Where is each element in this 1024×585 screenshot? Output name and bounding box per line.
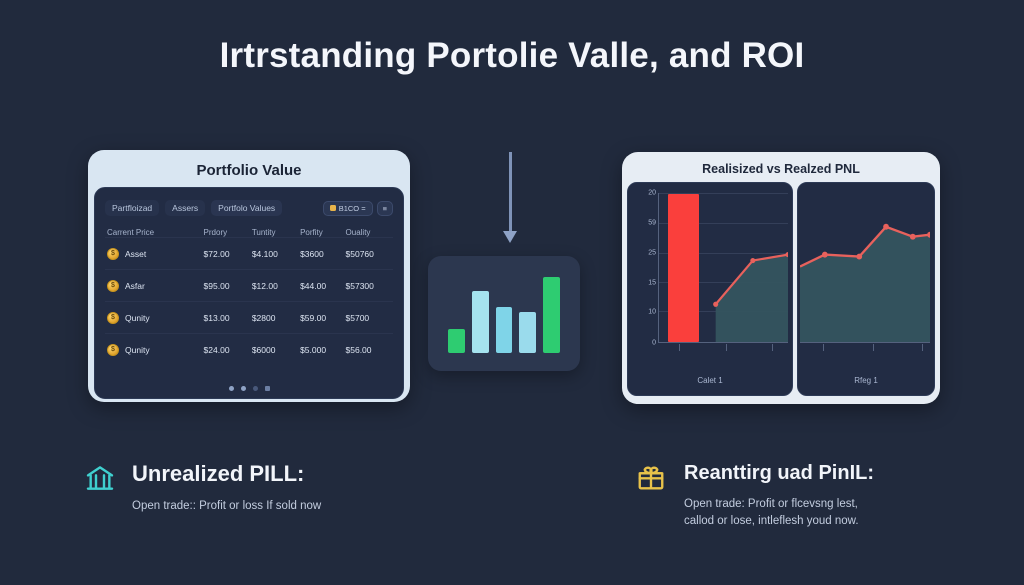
x-tick [873,344,874,351]
cell-ouality: $5700 [346,313,391,323]
currency-selector-label: B1CO = [339,204,366,213]
currency-selector-button[interactable]: B1CO = [323,201,373,216]
column-header-porfity: Porfity [300,228,345,237]
portfolio-tabs: Partfloizad Assers Portfolo Values B1CO … [105,197,393,219]
bar-chart-card [428,256,580,371]
x-axis-ticks-right [800,344,930,351]
x-tick [823,344,824,351]
portfolio-table-panel: Partfloizad Assers Portfolo Values B1CO … [94,187,404,399]
x-tick [679,344,680,351]
asset-cell: $ Qunity [107,344,204,356]
caption-unrealized-heading: Unrealized PILL: [132,462,321,486]
column-header-ouality: Ouality [346,228,391,237]
table-row[interactable]: $ Qunity $13.00 $2800 $59.00 $5700 [105,301,393,333]
cell-porfity: $59.00 [300,313,345,323]
caption-unrealized-text: Unrealized PILL: Open trade:: Profit or … [132,462,321,515]
chart-bar [519,312,536,353]
table-row[interactable]: $ Qunity $24.00 $6000 $5.000 $56.00 [105,333,393,365]
pagination-dot[interactable] [253,386,258,391]
chart-bar [472,291,489,353]
table-row[interactable]: $ Asfar $95.00 $12.00 $44.00 $57300 [105,269,393,301]
pagination-dot[interactable] [229,386,234,391]
coin-icon: $ [107,344,119,356]
caption-realized-body-line1: Open trade: Profit or flcevsng lest, [684,496,874,513]
portfolio-card-title: Portfolio Value [94,156,404,187]
pnl-chart-card: Realisized vs Realzed PNL 20 59 25 15 10… [622,152,940,404]
portfolio-toolbar: B1CO = ≡ [323,201,393,216]
x-axis-label-left: Calet 1 [628,376,792,385]
caption-realized-text: Reanttirg uad PinIL: Open trade: Profit … [684,462,874,529]
caption-realized-heading: Reanttirg uad PinIL: [684,462,874,484]
area-series-right [800,193,930,342]
y-tick-label: 20 [648,190,656,197]
asset-name: Qunity [125,345,150,355]
plot-area-right [800,193,930,343]
chart-bar [496,307,513,353]
coin-icon: $ [107,248,119,260]
y-tick-label: 0 [652,340,656,347]
y-tick-label: 59 [648,220,656,227]
realized-bar [668,194,699,342]
cell-porfity: $5.000 [300,345,345,355]
portfolio-value-card: Portfolio Value Partfloizad Assers Portf… [88,150,410,402]
cell-tuntity: $4.100 [252,249,300,259]
coin-icon: $ [107,280,119,292]
gift-icon [636,462,668,494]
screenshot-root: Irtrstanding Portolie Valle, and ROI Por… [0,0,1024,585]
asset-name: Asfar [125,281,145,291]
pnl-card-title: Realisized vs Realzed PNL [627,157,935,182]
cell-ouality: $50760 [346,249,391,259]
cell-prdory: $72.00 [204,249,252,259]
coin-icon: $ [107,312,119,324]
bar-chart-icon [448,274,560,353]
tab-assets[interactable]: Assers [165,200,205,216]
plot-area-left [658,193,788,343]
y-tick-label: 10 [648,308,656,315]
menu-button[interactable]: ≡ [377,201,393,216]
tab-portfoizad[interactable]: Partfloizad [105,200,159,216]
column-header-tuntity: Tuntity [252,228,300,237]
caption-realized-body-line2: callod or lose, intleflesh youd now. [684,513,874,530]
chart-bar [543,277,560,353]
hamburger-icon: ≡ [383,204,387,213]
pnl-chart-left-panel[interactable]: 20 59 25 15 10 0 [627,182,793,396]
currency-swatch-icon [330,205,336,211]
asset-name: Asset [125,249,146,259]
cell-prdory: $13.00 [204,313,252,323]
cell-ouality: $57300 [346,281,391,291]
caption-unrealized-body: Open trade:: Profit or loss If sold now [132,498,321,515]
column-header-prdory: Prdory [204,228,252,237]
pnl-chart-wrap: 20 59 25 15 10 0 [627,182,935,396]
cell-prdory: $24.00 [204,345,252,355]
tab-portfolio-values[interactable]: Portfolo Values [211,200,282,216]
pagination-dots[interactable] [95,386,403,391]
cell-tuntity: $2800 [252,313,300,323]
y-tick-label: 25 [648,250,656,257]
table-header-row: Carrent Price Prdory Tuntity Porfity Oua… [105,228,393,237]
cell-tuntity: $12.00 [252,281,300,291]
x-axis-ticks-left [658,344,788,351]
cell-ouality: $56.00 [346,345,391,355]
cell-porfity: $3600 [300,249,345,259]
pnl-chart-right-panel[interactable]: Rfeg 1 [797,182,935,396]
asset-cell: $ Asset [107,248,204,260]
caption-unrealized: Unrealized PILL: Open trade:: Profit or … [84,462,484,515]
arrow-down-icon [508,152,512,244]
page-title: Irtrstanding Portolie Valle, and ROI [0,36,1024,76]
asset-cell: $ Asfar [107,280,204,292]
y-tick-label: 15 [648,280,656,287]
x-tick [772,344,773,351]
caption-realized: Reanttirg uad PinIL: Open trade: Profit … [636,462,1016,529]
asset-cell: $ Qunity [107,312,204,324]
pagination-dot[interactable] [265,386,270,391]
y-axis: 20 59 25 15 10 0 [634,193,656,343]
chart-bar [448,329,465,353]
bank-icon [84,462,116,494]
x-axis-label-right: Rfeg 1 [798,376,934,385]
x-tick [922,344,923,351]
cell-tuntity: $6000 [252,345,300,355]
x-tick [726,344,727,351]
column-header-current-price: Carrent Price [107,228,204,237]
arrow-head [503,231,517,243]
table-row[interactable]: $ Asset $72.00 $4.100 $3600 $50760 [105,237,393,269]
cell-prdory: $95.00 [204,281,252,291]
asset-name: Qunity [125,313,150,323]
pagination-dot[interactable] [241,386,246,391]
arrow-shaft [509,152,512,232]
cell-porfity: $44.00 [300,281,345,291]
caption-realized-body: Open trade: Profit or flcevsng lest, cal… [684,496,874,529]
